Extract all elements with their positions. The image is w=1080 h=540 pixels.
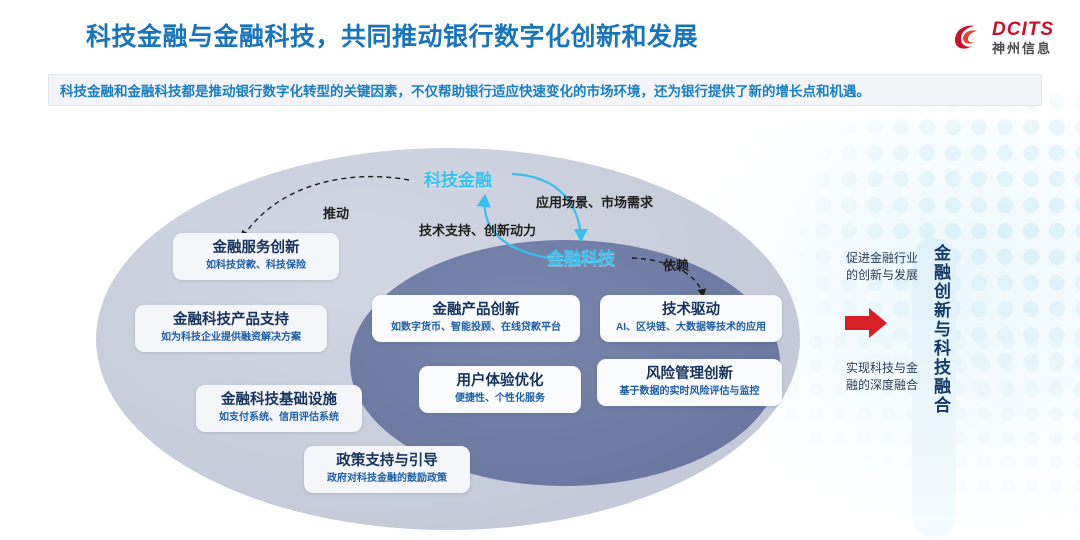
relation-label-tuidong: 推动 <box>323 203 349 222</box>
brand-logo: DCITS 神州信息 <box>951 16 1054 58</box>
node-zhengce-zhichi-yindao[interactable]: 政策支持与引导 政府对科技金融的鼓励政策 <box>304 446 470 493</box>
node-subtitle: 如数字货币、智能投顾、在线贷款平台 <box>382 322 570 334</box>
slide-root: 科技金融与金融科技，共同推动银行数字化创新和发展 DCITS 神州信息 科技金融… <box>0 0 1080 540</box>
logo-text-en: DCITS <box>992 20 1054 39</box>
side-note-top: 促进金融行业 的创新与发展 <box>834 250 930 285</box>
page-title: 科技金融与金融科技，共同推动银行数字化创新和发展 <box>86 17 698 53</box>
node-title: 政策支持与引导 <box>314 453 460 470</box>
relation-label-yilai: 依赖 <box>663 255 689 274</box>
dcits-swirl-logo-icon <box>951 20 985 54</box>
node-subtitle: 基于数据的实时风险评估与监控 <box>607 386 772 398</box>
node-yonghu-tiyan-youhua[interactable]: 用户体验优化 便捷性、个性化服务 <box>419 366 581 413</box>
relation-label-yingyong-changjing: 应用场景、市场需求 <box>536 192 653 211</box>
node-title: 金融产品创新 <box>382 302 570 319</box>
node-jinrong-keji-jichu-sheshi[interactable]: 金融科技基础设施 如支付系统、信用评估系统 <box>196 385 362 432</box>
node-jinrong-chanpin-chuangxin[interactable]: 金融产品创新 如数字货币、智能投顾、在线贷款平台 <box>372 295 580 342</box>
concept-label-keji-jinrong: 科技金融 <box>424 166 492 191</box>
node-jinrong-fuwu-chuangxin[interactable]: 金融服务创新 如科技贷款、科技保险 <box>173 233 339 280</box>
side-note-bottom: 实现科技与金 融的深度融合 <box>834 360 930 395</box>
node-title: 技术驱动 <box>610 302 772 319</box>
diagram-canvas: 科技金融 金融科技 推动 应用场景、市场需求 技术支持、创新动力 依赖 金融服务… <box>0 110 1080 540</box>
node-title: 金融科技基础设施 <box>206 392 352 409</box>
side-note-bottom-line1: 实现科技与金 <box>834 360 930 377</box>
node-subtitle: 政府对科技金融的鼓励政策 <box>314 473 460 485</box>
right-arrow-icon <box>843 306 889 340</box>
side-note-top-line1: 促进金融行业 <box>834 250 930 267</box>
node-subtitle: 如为科技企业提供融资解决方案 <box>145 332 317 344</box>
subtitle-text: 科技金融和金融科技都是推动银行数字化转型的关键因素，不仅帮助银行适应快速变化的市… <box>48 80 870 100</box>
node-jinrong-keji-chanpin-zhichi[interactable]: 金融科技产品支持 如为科技企业提供融资解决方案 <box>135 305 327 352</box>
node-subtitle: 如支付系统、信用评估系统 <box>206 412 352 424</box>
logo-text-cn: 神州信息 <box>992 42 1054 55</box>
node-title: 金融科技产品支持 <box>145 312 317 329</box>
side-note-top-line2: 的创新与发展 <box>834 267 930 284</box>
node-title: 用户体验优化 <box>429 373 571 390</box>
relation-label-jishu-zhichi: 技术支持、创新动力 <box>419 220 536 239</box>
node-fengxian-guanli-chuangxin[interactable]: 风险管理创新 基于数据的实时风险评估与监控 <box>597 359 782 406</box>
side-note-bottom-line2: 融的深度融合 <box>834 377 930 394</box>
node-jishu-qudong[interactable]: 技术驱动 AI、区块链、大数据等技术的应用 <box>600 295 782 342</box>
node-subtitle: AI、区块链、大数据等技术的应用 <box>610 322 772 334</box>
node-subtitle: 如科技贷款、科技保险 <box>183 260 329 272</box>
subtitle-banner: 科技金融和金融科技都是推动银行数字化转型的关键因素，不仅帮助银行适应快速变化的市… <box>48 74 1042 106</box>
node-subtitle: 便捷性、个性化服务 <box>429 393 571 405</box>
concept-label-jinrong-keji: 金融科技 <box>547 244 615 269</box>
node-title: 金融服务创新 <box>183 240 329 257</box>
node-title: 风险管理创新 <box>607 366 772 383</box>
